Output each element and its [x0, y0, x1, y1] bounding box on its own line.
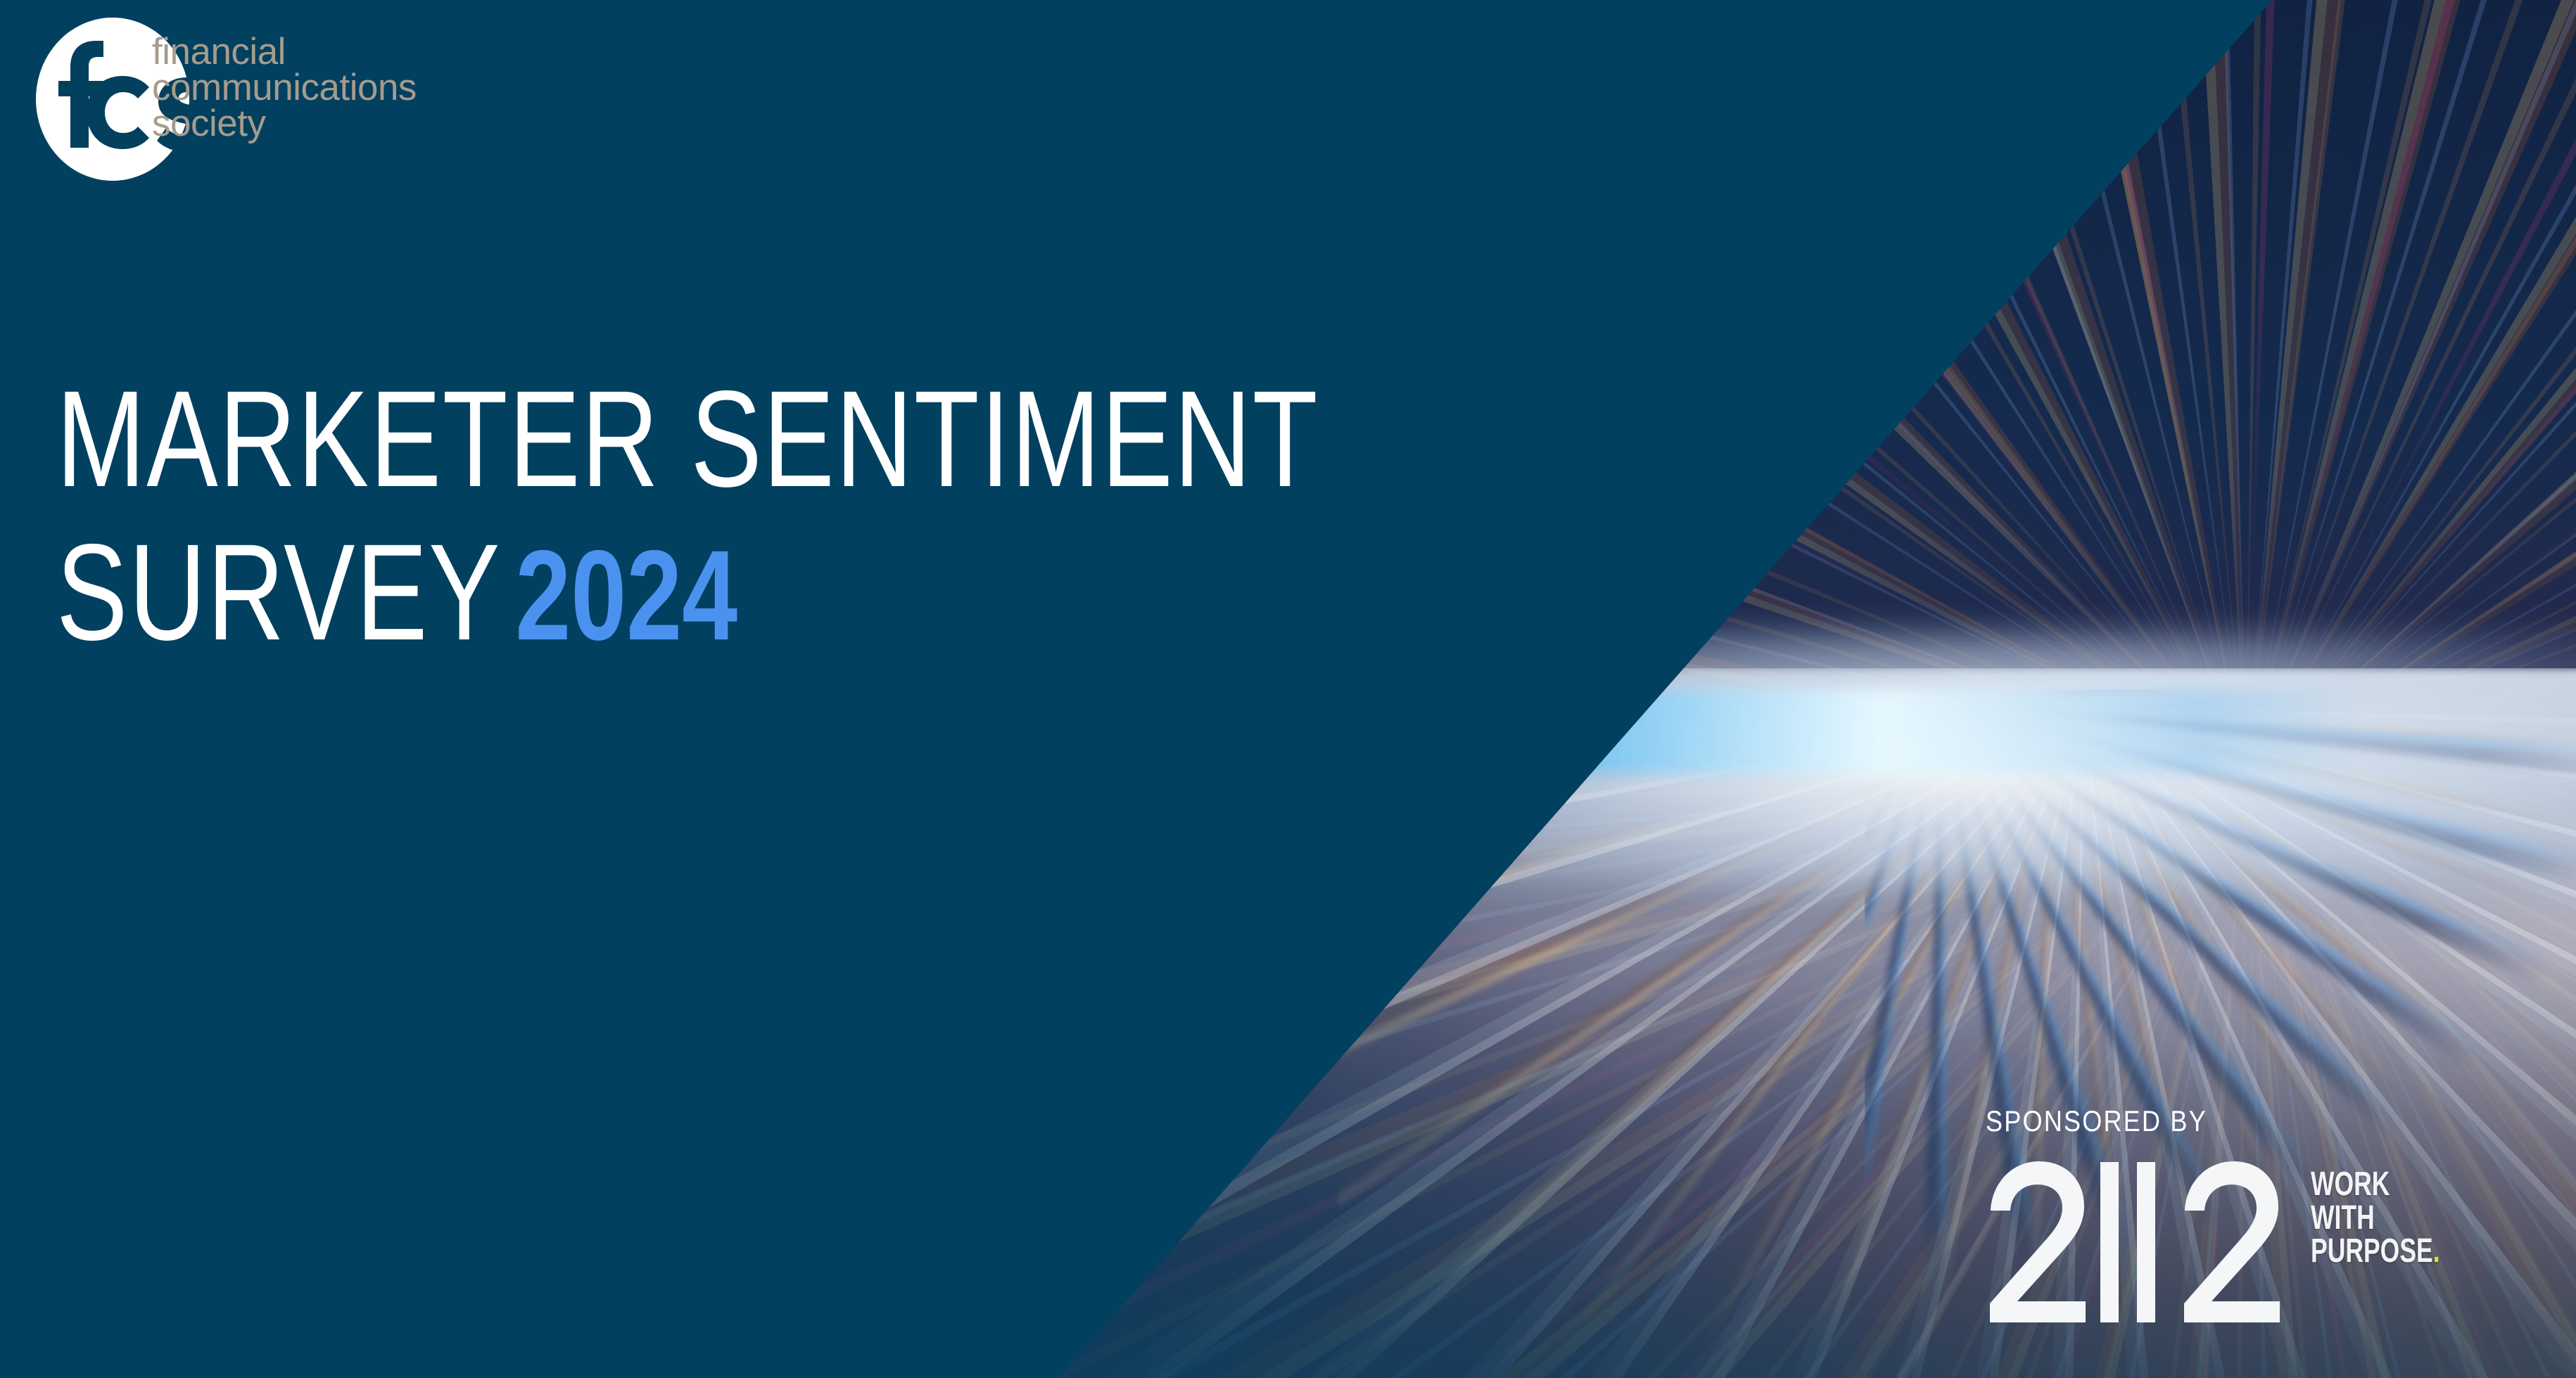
tagline-accent-dot: .	[2433, 1232, 2440, 1270]
page-title: MARKETER SENTIMENT SURVEY2024	[56, 362, 1675, 670]
tagline-line-2: WITH	[2311, 1201, 2440, 1235]
tagline-word-purpose: PURPOSE	[2311, 1232, 2433, 1270]
title-year: 2024	[515, 523, 737, 667]
work-with-purpose-tagline: WORK WITH PURPOSE.	[2311, 1168, 2440, 1268]
sponsored-by-label: SPONSORED BY	[1986, 1104, 2470, 1138]
tagline-line-1: WORK	[2311, 1168, 2440, 1201]
2112-logo-icon	[1986, 1159, 2288, 1322]
title-line-1: MARKETER SENTIMENT	[56, 362, 1319, 516]
fcs-logo: financial communications society	[33, 17, 694, 200]
title-survey-word: SURVEY	[56, 516, 501, 669]
fcs-wordmark-line3: society	[152, 103, 265, 144]
title-line-2: SURVEY2024	[56, 516, 1319, 669]
tagline-line-3: PURPOSE.	[2311, 1235, 2440, 1268]
sponsor-logo-row: WORK WITH PURPOSE.	[1986, 1159, 2485, 1322]
slide-canvas: financial communications society MARKETE…	[0, 0, 2576, 1378]
sponsor-block: SPONSORED BY WORK WITH PURPOSE.	[1986, 1104, 2549, 1358]
fcs-wordmark: financial communications society	[152, 34, 417, 142]
